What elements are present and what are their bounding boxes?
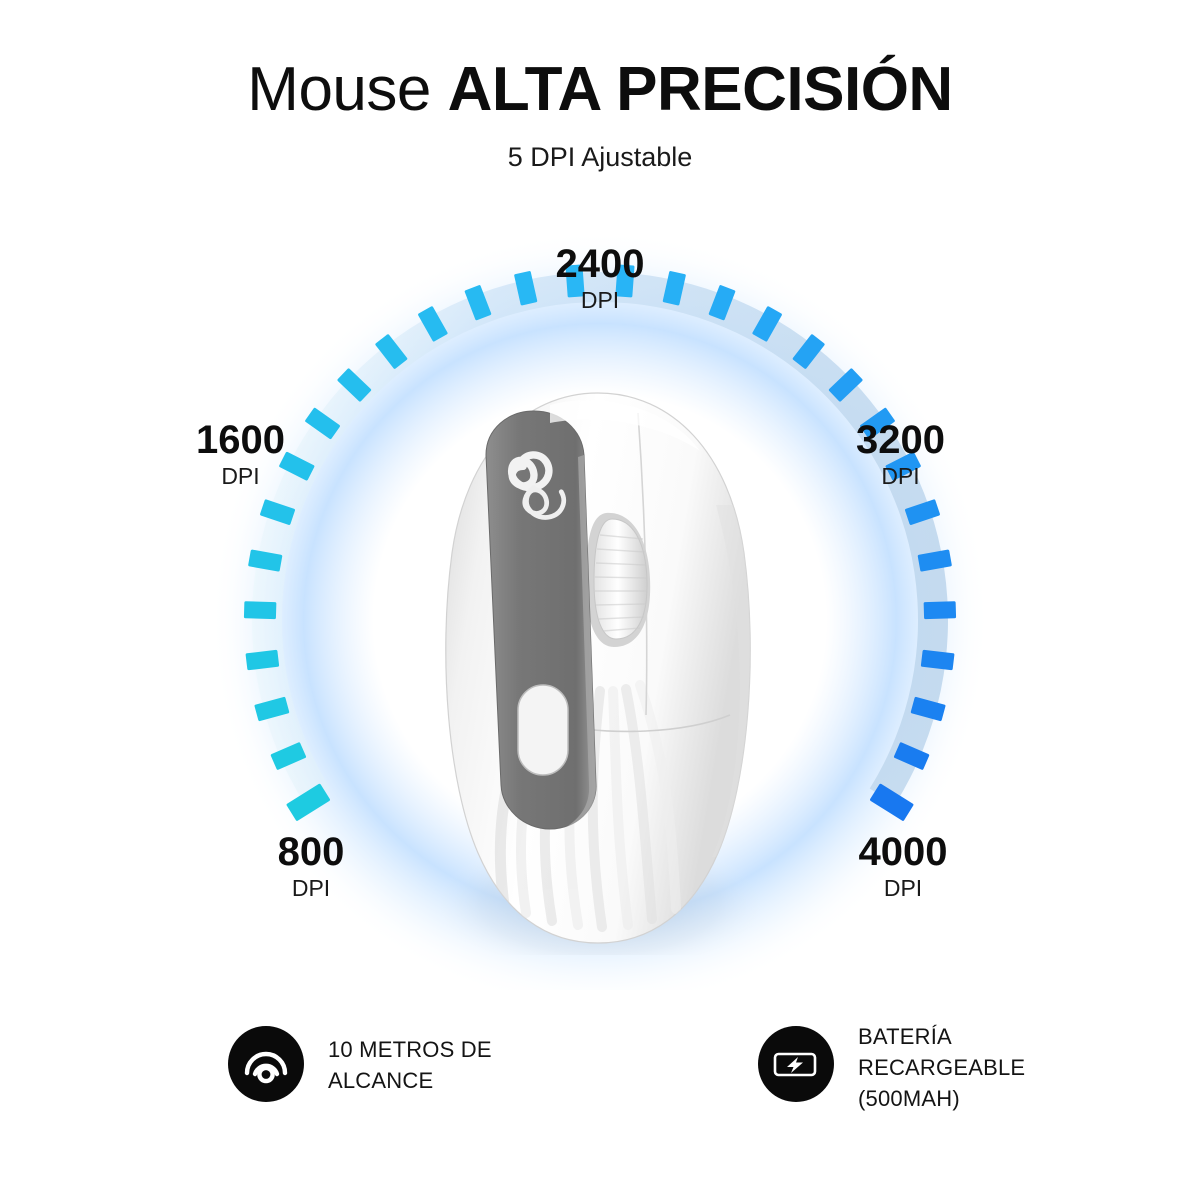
gauge-tick [244, 601, 276, 619]
battery-charging-icon [758, 1026, 834, 1102]
dpi-label-3200: 3200 DPI [856, 418, 945, 489]
title-light-part: Mouse [247, 55, 447, 124]
dpi-value: 800 [256, 830, 366, 874]
feature-line: ALCANCE [328, 1065, 492, 1096]
mouse-illustration [400, 385, 800, 955]
dpi-value: 4000 [838, 830, 968, 874]
feature-row: 10 METROS DE ALCANCE BATERÍA RECARGEABLE… [0, 1020, 1200, 1180]
feature-battery: BATERÍA RECARGEABLE (500MAH) [758, 1020, 1025, 1114]
dpi-value: 3200 [856, 418, 945, 462]
gauge-tick [924, 601, 956, 619]
header: Mouse ALTA PRECISIÓN 5 DPI Ajustable [0, 0, 1200, 173]
dpi-unit: DPI [856, 463, 945, 489]
wireless-signal-icon [228, 1026, 304, 1102]
feature-range-text: 10 METROS DE ALCANCE [328, 1020, 492, 1096]
feature-line: (500MAH) [858, 1083, 1025, 1114]
dpi-unit: DPI [196, 463, 285, 489]
dpi-label-2400: 2400 DPI [510, 242, 690, 313]
feature-battery-text: BATERÍA RECARGEABLE (500MAH) [858, 1020, 1025, 1114]
dpi-value: 1600 [196, 418, 285, 462]
title-bold-part: ALTA PRECISIÓN [448, 55, 953, 124]
page-subtitle: 5 DPI Ajustable [0, 142, 1200, 173]
mouse-side-button [518, 685, 568, 775]
feature-range: 10 METROS DE ALCANCE [228, 1020, 492, 1102]
feature-line: 10 METROS DE [328, 1034, 492, 1065]
dpi-unit: DPI [838, 875, 968, 901]
dpi-value: 2400 [510, 242, 690, 286]
feature-line: RECARGEABLE [858, 1052, 1025, 1083]
page-title: Mouse ALTA PRECISIÓN [0, 52, 1200, 128]
dpi-unit: DPI [510, 287, 690, 313]
dpi-unit: DPI [256, 875, 366, 901]
dpi-label-4000: 4000 DPI [838, 830, 968, 901]
mouse-graphic [400, 385, 800, 955]
dpi-label-800: 800 DPI [256, 830, 366, 901]
feature-line: BATERÍA [858, 1021, 1025, 1052]
dpi-gauge: 1600 DPI 2400 DPI 3200 DPI 800 DPI 4000 … [0, 200, 1200, 990]
dpi-label-1600: 1600 DPI [196, 418, 285, 489]
